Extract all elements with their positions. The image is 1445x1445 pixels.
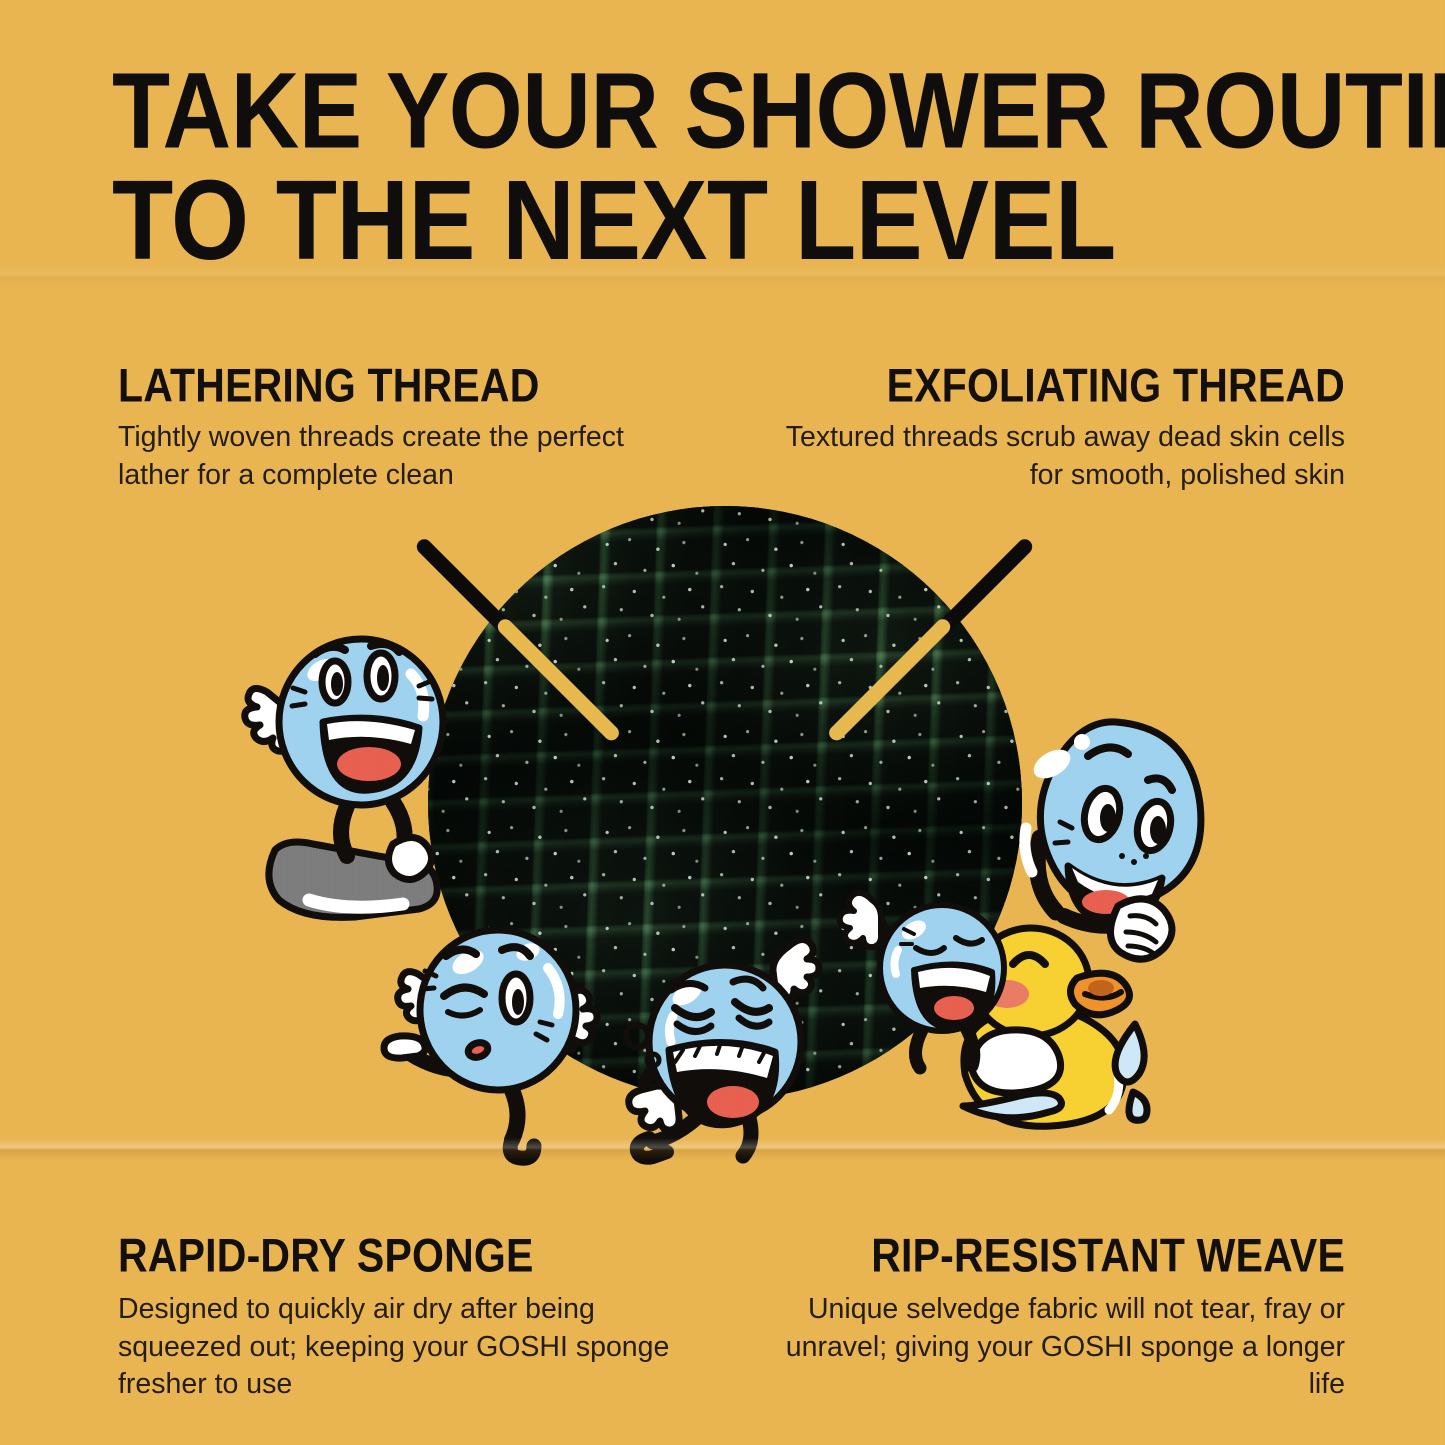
mascot-laughing — [613, 950, 833, 1165]
mascot-big-right — [998, 716, 1233, 981]
feature-rip-resistant-weave: RIP-RESISTANT WEAVE Unique selvedge fabr… — [755, 1232, 1345, 1404]
page-title: TAKE YOUR SHOWER ROUTINE TO THE NEXT LEV… — [112, 60, 1362, 259]
feature-title-exfoliating: EXFOLIATING THREAD — [785, 362, 1345, 410]
feature-rapid-dry-sponge: RAPID-DRY SPONGE Designed to quickly air… — [118, 1232, 678, 1404]
feature-body-exfoliating: Textured threads scrub away dead skin ce… — [785, 419, 1345, 494]
mascot-lathering — [243, 612, 473, 927]
feature-title-lathering: LATHERING THREAD — [118, 362, 678, 410]
feature-title-rip-resistant: RIP-RESISTANT WEAVE — [755, 1232, 1345, 1280]
feature-exfoliating-thread: EXFOLIATING THREAD Textured threads scru… — [785, 362, 1345, 494]
feature-body-lathering: Tightly woven threads create the perfect… — [118, 419, 678, 494]
feature-body-rapid-dry: Designed to quickly air dry after being … — [118, 1291, 678, 1404]
mascot-winking — [382, 918, 617, 1163]
headline-line-2: TO THE NEXT LEVEL — [112, 166, 1418, 276]
feature-lathering-thread: LATHERING THREAD Tightly woven threads c… — [118, 362, 678, 494]
feature-body-rip-resistant: Unique selvedge fabric will not tear, fr… — [755, 1291, 1345, 1404]
feature-title-rapid-dry: RAPID-DRY SPONGE — [118, 1232, 678, 1280]
headline-line-1: TAKE YOUR SHOWER ROUTINE — [112, 60, 1418, 164]
infographic-canvas: TAKE YOUR SHOWER ROUTINE TO THE NEXT LEV… — [0, 0, 1445, 1445]
